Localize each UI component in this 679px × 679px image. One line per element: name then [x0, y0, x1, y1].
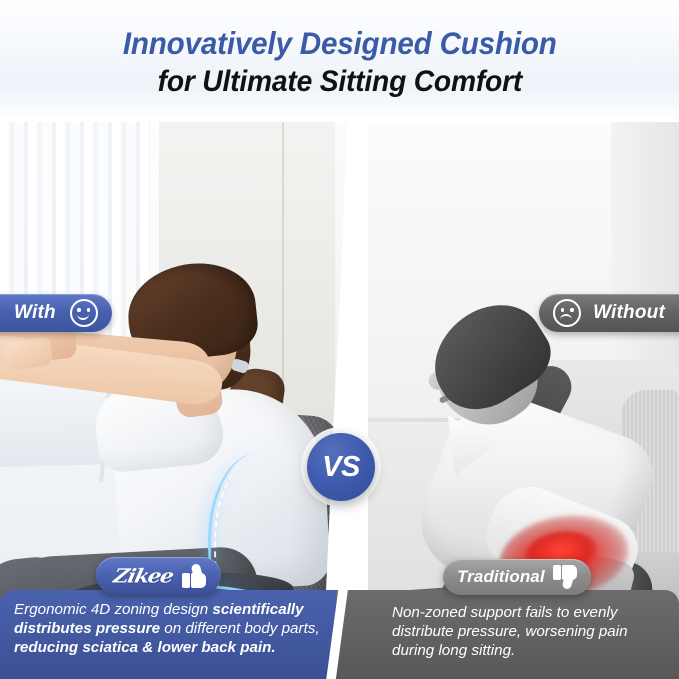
badge-with: With: [0, 294, 112, 332]
smiley-face-icon: [70, 299, 98, 327]
caption-without-cushion: Non-zoned support fails to evenly distri…: [336, 590, 679, 679]
badge-without-label: Without: [593, 302, 665, 324]
sad-face-icon: [553, 299, 581, 327]
caption-with-cushion: Ergonomic 4D zoning design scientificall…: [0, 590, 352, 679]
thumbs-up-icon: [182, 564, 206, 588]
vs-label: VS: [322, 451, 360, 484]
brand-logo-text: Zikee: [112, 564, 175, 587]
caption-left-text-1: Ergonomic 4D zoning design: [14, 601, 212, 618]
brand-badge-zikee: Zikee: [96, 557, 221, 594]
caption-left-text-2: on different body parts,: [160, 620, 320, 637]
caption-left-bold-2: reducing sciatica & lower back pain.: [14, 639, 276, 656]
header-banner: Innovatively Designed Cushion for Ultima…: [0, 0, 679, 122]
traditional-label: Traditional: [457, 567, 545, 587]
badge-without: Without: [539, 294, 679, 332]
badge-traditional: Traditional: [443, 559, 591, 595]
vs-badge: VS: [307, 433, 375, 501]
page-title-line-2: for Ultimate Sitting Comfort: [157, 64, 521, 100]
caption-right-text: Non-zoned support fails to evenly distri…: [392, 604, 628, 659]
thumbs-down-icon: [553, 565, 577, 589]
caption-bands: Ergonomic 4D zoning design scientificall…: [0, 590, 679, 679]
badge-with-label: With: [14, 302, 56, 324]
page-title-line-1: Innovatively Designed Cushion: [123, 26, 557, 61]
product-comparison-graphic: Innovatively Designed Cushion for Ultima…: [0, 0, 679, 679]
